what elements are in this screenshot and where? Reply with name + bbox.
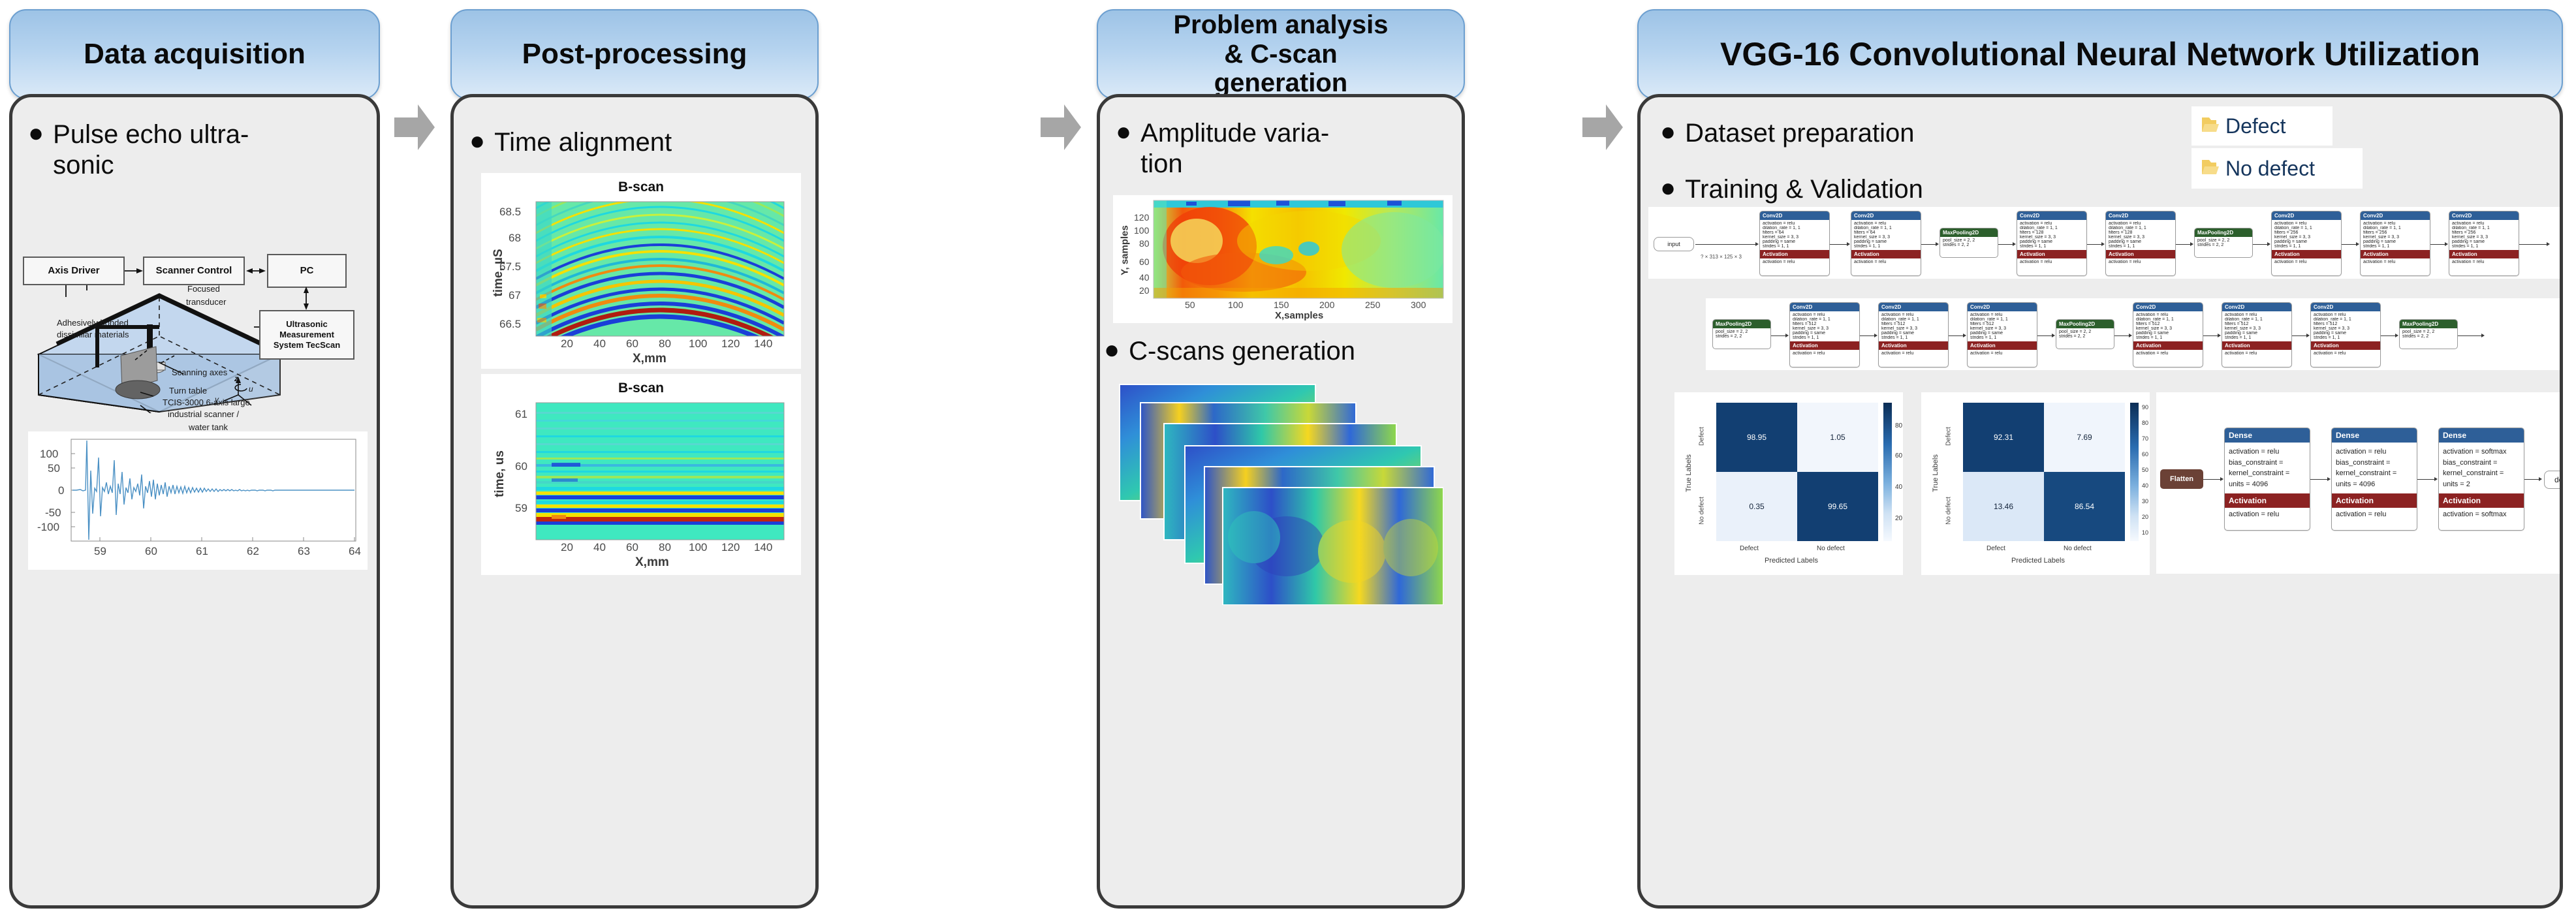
ascan-xtick-1: 60 xyxy=(145,545,157,558)
pipeline-figure: Data acquisition ● Pulse echo ultra- son… xyxy=(0,0,2576,919)
dense-layer-2: Dense activation = relu bias_constraint … xyxy=(2331,428,2417,531)
cnn-layer-conv2d-8: Conv2D activation = relu dilation_rate =… xyxy=(1789,302,1860,367)
cm1-cell-fn: 0.35 xyxy=(1716,472,1797,541)
bscan-2-xtick-5: 120 xyxy=(721,541,740,554)
class-folder-defect[interactable]: Defect xyxy=(2191,106,2333,146)
stage-1-title: Data acquisition xyxy=(84,38,306,70)
axis-label-z: z xyxy=(234,374,238,383)
layer-params: activation = relu dilation_rate = 1, 1 f… xyxy=(1968,311,2037,341)
layer-params: activation = relu dilation_rate = 1, 1 f… xyxy=(2272,220,2341,250)
cnn-layer-conv2d-11: Conv2D activation = relu dilation_rate =… xyxy=(2133,302,2203,367)
axis-label-y: y xyxy=(215,395,219,404)
bscan-1-xlabel: X,mm xyxy=(633,352,667,366)
diagram-box-pc: PC xyxy=(267,254,347,288)
folder-label: Defect xyxy=(2225,114,2285,138)
bullet-dot-icon: ● xyxy=(1116,118,1131,146)
connector-arrow-icon xyxy=(1963,334,1966,337)
diagram-label-scanner-2: industrial scanner / xyxy=(168,409,239,419)
cm2-class-no-defect: No defect xyxy=(1945,486,1953,536)
cm1-cbar-tick-0: 80 xyxy=(1895,422,1902,429)
bscan-1-ytick-4: 66.5 xyxy=(499,318,521,331)
connector xyxy=(2342,244,2356,245)
cm2-cbar-tick-7: 20 xyxy=(2142,514,2148,520)
layer-activation-param: activation = relu xyxy=(1968,350,2037,357)
stage-4-header: VGG-16 Convolutional Neural Network Util… xyxy=(1637,9,2563,99)
bscan-2-ytick-2: 59 xyxy=(515,502,527,515)
layer-params: activation = softmax bias_constraint = k… xyxy=(2439,443,2524,493)
connector xyxy=(2381,335,2395,336)
ascan-xtick-3: 62 xyxy=(247,545,259,558)
diagram-label-dissimilar-materials: dissimilar materials xyxy=(57,330,129,339)
connector-arrow-icon xyxy=(2395,334,2398,337)
layer-params: activation = relu dilation_rate = 1, 1 f… xyxy=(1760,220,1829,250)
stage-3-bullet-1: ● C-scans generation xyxy=(1104,336,1456,367)
stage-1-header: Data acquisition xyxy=(9,9,380,99)
diagram-label-scanning-axes: Scanning axes xyxy=(172,367,227,377)
layer-params: pool_size = 2, 2 strides = 2, 2 xyxy=(2195,237,2252,249)
cm1-class-defect: Defect xyxy=(1699,416,1706,458)
output-pill-label: dense_3 xyxy=(2554,475,2563,484)
layer-params: activation = relu dilation_rate = 1, 1 f… xyxy=(2361,220,2430,250)
cm1-cbar-tick-1: 60 xyxy=(1895,452,1902,459)
layer-activation-param: activation = relu xyxy=(2361,258,2430,266)
cm1-cell-fp: 1.05 xyxy=(1797,403,1878,472)
cm2-value-0-0: 92.31 xyxy=(1994,433,2013,442)
folder-label: No defect xyxy=(2225,157,2315,181)
connector xyxy=(2087,244,2101,245)
dense-layer-3-output: Dense activation = softmax bias_constrai… xyxy=(2438,428,2524,531)
cscan-xtick-3: 200 xyxy=(1319,300,1334,310)
bullet-text: Amplitude varia- tion xyxy=(1140,118,1329,179)
connector-arrow-icon xyxy=(1847,242,1850,246)
layer-params: pool_size = 2, 2 strides = 2, 2 xyxy=(1713,328,1770,340)
cscan-stack-svg xyxy=(1117,383,1443,605)
cm2-cell-tn: 86.54 xyxy=(2044,472,2125,541)
connector-arrow-icon xyxy=(2434,477,2438,481)
layer-title: Conv2D xyxy=(2311,303,2380,311)
ascan-ytick-3: -50 xyxy=(45,506,61,520)
layer-params: activation = relu bias_constraint = kern… xyxy=(2332,443,2417,493)
cnn-layer-conv2d-5: Conv2D activation = relu dilation_rate =… xyxy=(2271,211,2342,276)
bscan-2-xtick-2: 60 xyxy=(626,541,638,554)
layer-params: activation = relu dilation_rate = 1, 1 f… xyxy=(2449,220,2519,250)
validation-confusion-matrix: True Labels Defect No defect 92.31 7.69 … xyxy=(1921,392,2150,575)
cscan-ytick-4: 40 xyxy=(1139,272,1150,283)
layer-activation-title: Activation xyxy=(2017,250,2086,258)
stage-2-header: Post-processing xyxy=(450,9,819,99)
cm1-value-0-0: 98.95 xyxy=(1747,433,1767,442)
layer-title: MaxPooling2D xyxy=(2195,228,2252,237)
connector-arrow-icon xyxy=(2267,242,2270,246)
layer-activation-title: Activation xyxy=(2272,250,2341,258)
layer-activation-title: Activation xyxy=(1760,250,1829,258)
connector-arrow-icon xyxy=(2356,242,2359,246)
bscan-1-xtick-2: 60 xyxy=(626,337,638,350)
cscan-xlabel: X,samples xyxy=(1275,310,1323,321)
connector xyxy=(2519,244,2547,245)
layer-activation-title: Activation xyxy=(2225,493,2310,508)
cscan-amplitude-plot: Y, samples X,samples 120 100 80 60 40 20… xyxy=(1113,195,1453,323)
cm1-colorbar xyxy=(1883,403,1892,541)
cnn-row-3-dense-head: Flatten Dense activation = relu bias_con… xyxy=(2156,392,2560,574)
stage-1-body: ● Pulse echo ultra- sonic xyxy=(9,94,380,909)
layer-activation-title: Activation xyxy=(2449,250,2519,258)
cscan-ytick-2: 80 xyxy=(1139,238,1150,249)
connector-arrow-icon xyxy=(2013,242,2016,246)
stage-2-body: ● Time alignment B-scan xyxy=(450,94,819,909)
connector-arrow-icon xyxy=(2547,242,2550,246)
connector-arrow-icon xyxy=(2190,242,2193,246)
layer-activation-param: activation = relu xyxy=(1790,350,1859,357)
cm1-value-1-0: 0.35 xyxy=(1749,502,1764,511)
cm2-xtick-no-defect: No defect xyxy=(2064,545,2092,552)
bscan-1-svg xyxy=(481,173,801,369)
stage-arrow-2 xyxy=(1041,103,1081,151)
bscan-2-xtick-6: 140 xyxy=(754,541,772,554)
layer-activation-param: activation = relu xyxy=(1851,258,1921,266)
diagram-label-adhesively-bonded: Adhesively bonded xyxy=(57,318,129,328)
axis-label-u: u xyxy=(249,384,253,394)
connector xyxy=(2430,244,2445,245)
layer-activation-param: activation = relu xyxy=(2222,350,2291,357)
layer-activation-param: activation = relu xyxy=(2311,350,2380,357)
bullet-text: Training & Validation xyxy=(1685,174,1923,205)
cm2-cbar-tick-3: 60 xyxy=(2142,451,2148,458)
layer-title: Conv2D xyxy=(2272,211,2341,220)
connector-arrow-icon xyxy=(2445,242,2448,246)
bullet-dot-icon: ● xyxy=(1660,174,1676,202)
layer-activation-title: Activation xyxy=(1879,341,1948,350)
bullet-dot-icon: ● xyxy=(1104,336,1120,364)
layer-params: activation = relu dilation_rate = 1, 1 f… xyxy=(2222,311,2291,341)
layer-params: activation = relu dilation_rate = 1, 1 f… xyxy=(1790,311,1859,341)
box-label: Axis Driver xyxy=(48,265,99,277)
layer-title: Conv2D xyxy=(1851,211,1921,220)
connector-arrow-icon xyxy=(2220,477,2223,481)
cnn-layer-conv2d-13: Conv2D activation = relu dilation_rate =… xyxy=(2310,302,2381,367)
layer-title: Dense xyxy=(2439,428,2524,443)
connector xyxy=(2203,479,2220,480)
flatten-block: Flatten xyxy=(2160,469,2203,489)
layer-title: Conv2D xyxy=(2361,211,2430,220)
cscan-ylabel: Y, samples xyxy=(1120,218,1131,283)
connector-arrow-icon xyxy=(2218,334,2221,337)
cm1-cbar-tick-2: 40 xyxy=(1895,484,1902,491)
bscan-aligned-plot: B-scan xyxy=(481,374,801,575)
bscan-2-ytick-1: 60 xyxy=(515,460,527,473)
bullet-text: C-scans generation xyxy=(1129,336,1355,367)
cscan-ytick-3: 60 xyxy=(1139,257,1150,267)
stage-arrow-3 xyxy=(1582,103,1623,151)
layer-params: activation = relu bias_constraint = kern… xyxy=(2225,443,2310,493)
layer-title: Conv2D xyxy=(1760,211,1829,220)
stage-3-header: Problem analysis & C-scan generation xyxy=(1097,9,1465,99)
layer-title: Conv2D xyxy=(1879,303,1948,311)
connector xyxy=(1921,244,1936,245)
box-label: Scanner Control xyxy=(156,265,232,277)
layer-activation-title: Activation xyxy=(1968,341,2037,350)
cm2-cbar-tick-6: 30 xyxy=(2142,498,2148,505)
bscan-1-ytick-3: 67 xyxy=(509,289,521,302)
bscan-2-xtick-3: 80 xyxy=(659,541,671,554)
bscan-2-xtick-0: 20 xyxy=(561,541,573,554)
cscan-xtick-4: 250 xyxy=(1365,300,1380,310)
cm2-cell-fp: 7.69 xyxy=(2044,403,2125,472)
cm2-cell-fn: 13.46 xyxy=(1963,472,2044,541)
layer-activation-title: Activation xyxy=(2311,341,2380,350)
layer-activation-title: Activation xyxy=(2439,493,2524,508)
box-label: Ultrasonic Measurement System TecScan xyxy=(274,319,340,350)
connector-arrow-icon xyxy=(2327,477,2331,481)
layer-activation-param: activation = relu xyxy=(2106,258,2175,266)
connector-arrow-icon xyxy=(1755,242,1759,246)
ascan-ytick-1: 50 xyxy=(48,462,60,475)
layer-activation-title: Activation xyxy=(2106,250,2175,258)
layer-activation-param: activation = relu xyxy=(1760,258,1829,266)
layer-params: activation = relu dilation_rate = 1, 1 f… xyxy=(1851,220,1921,250)
connector xyxy=(1771,335,1785,336)
cm1-value-0-1: 1.05 xyxy=(1830,433,1845,442)
diagram-label-water-tank: water tank xyxy=(189,422,228,432)
cnn-layer-conv2d-2: Conv2D activation = relu dilation_rate =… xyxy=(1851,211,1921,276)
cnn-row-1: input ? × 313 × 125 × 3 Conv2D activatio… xyxy=(1648,207,2560,279)
ascan-xtick-2: 61 xyxy=(196,545,208,558)
connector-arrow-icon xyxy=(2129,334,2132,337)
layer-activation-param: activation = relu xyxy=(2017,258,2086,266)
layer-activation-param: activation = softmax xyxy=(2439,508,2524,521)
layer-activation-param: activation = relu xyxy=(1879,350,1948,357)
layer-params: activation = relu dilation_rate = 1, 1 f… xyxy=(2311,311,2380,341)
connector-arrow-icon xyxy=(2306,334,2310,337)
bscan-2-xlabel: X,mm xyxy=(635,555,669,570)
stage-4-title: VGG-16 Convolutional Neural Network Util… xyxy=(1720,35,2480,74)
layer-title: Dense xyxy=(2225,428,2310,443)
layer-activation-param: activation = relu xyxy=(2449,258,2519,266)
layer-activation-title: Activation xyxy=(1790,341,1859,350)
layer-params: activation = relu dilation_rate = 1, 1 f… xyxy=(2133,311,2203,341)
connector xyxy=(1830,244,1847,245)
layer-activation-param: activation = relu xyxy=(2272,258,2341,266)
input-pill: input xyxy=(1654,237,1694,251)
layer-title: MaxPooling2D xyxy=(2056,320,2114,328)
dense-layer-1: Dense activation = relu bias_constraint … xyxy=(2224,428,2310,531)
bullet-dot-icon: ● xyxy=(469,127,485,155)
connector-arrow-icon xyxy=(1785,334,1789,337)
bscan-2-ytick-0: 61 xyxy=(515,408,527,421)
training-confusion-matrix: True Labels Defect No defect 98.95 1.05 … xyxy=(1674,392,1903,575)
connector xyxy=(1860,335,1874,336)
cm2-cell-tp: 92.31 xyxy=(1963,403,2044,472)
cnn-layer-conv2d-7: Conv2D activation = relu dilation_rate =… xyxy=(2449,211,2519,276)
layer-params: activation = relu dilation_rate = 1, 1 f… xyxy=(1879,311,1948,341)
bscan-1-xtick-4: 100 xyxy=(689,337,707,350)
ascan-xtick-4: 63 xyxy=(298,545,310,558)
bscan-1-xtick-0: 20 xyxy=(561,337,573,350)
input-pill-label: input xyxy=(1667,241,1680,247)
layer-title: Conv2D xyxy=(2017,211,2086,220)
diagram-box-tecscan: Ultrasonic Measurement System TecScan xyxy=(259,310,354,360)
cnn-layer-maxpool-5: MaxPooling2D pool_size = 2, 2 strides = … xyxy=(2399,319,2458,349)
ascan-xtick-5: 64 xyxy=(349,545,361,558)
stage-3-bullet-0: ● Amplitude varia- tion xyxy=(1116,118,1442,179)
diagram-box-scanner-control: Scanner Control xyxy=(143,257,245,285)
layer-title: Conv2D xyxy=(2449,211,2519,220)
bscan-1-ytick-1: 68 xyxy=(509,232,521,245)
layer-activation-title: Activation xyxy=(2222,341,2291,350)
cm2-value-0-1: 7.69 xyxy=(2077,433,2092,442)
cm2-value-1-0: 13.46 xyxy=(1994,502,2013,511)
layer-title: Conv2D xyxy=(2222,303,2291,311)
connector xyxy=(2203,335,2218,336)
cm2-class-defect: Defect xyxy=(1945,416,1953,458)
connector-arrow-icon xyxy=(2101,242,2105,246)
stage-1-bullet-0: ● Pulse echo ultra- sonic xyxy=(28,119,354,181)
cm2-xtick-defect: Defect xyxy=(1987,545,2005,552)
connector-arrow-icon xyxy=(2539,477,2542,481)
connector xyxy=(2037,335,2052,336)
cm2-colorbar xyxy=(2130,403,2139,541)
bullet-dot-icon: ● xyxy=(1660,118,1676,146)
folder-icon xyxy=(2199,157,2219,180)
cm1-xlabel: Predicted Labels xyxy=(1765,557,1818,565)
connector-arrow-icon xyxy=(2052,334,2055,337)
layer-title: MaxPooling2D xyxy=(1713,320,1770,328)
bscan-1-xtick-6: 140 xyxy=(754,337,772,350)
layer-activation-title: Activation xyxy=(2361,250,2430,258)
stage-2-bullet-0: ● Time alignment xyxy=(469,127,796,158)
cnn-row-2: MaxPooling2D pool_size = 2, 2 strides = … xyxy=(1706,298,2560,370)
bscan-1-ytick-2: 67.5 xyxy=(499,260,521,273)
layer-activation-title: Activation xyxy=(1851,250,1921,258)
cnn-layer-maxpool-3: MaxPooling2D pool_size = 2, 2 strides = … xyxy=(1712,319,1771,349)
layer-activation-param: activation = relu xyxy=(2332,508,2417,521)
cm2-cbar-tick-1: 80 xyxy=(2142,420,2148,426)
layer-activation-param: activation = relu xyxy=(2133,350,2203,357)
cnn-layer-conv2d-3: Conv2D activation = relu dilation_rate =… xyxy=(2017,211,2087,276)
cscan-ytick-5: 20 xyxy=(1139,285,1150,296)
cnn-layer-conv2d-4: Conv2D activation = relu dilation_rate =… xyxy=(2105,211,2176,276)
layer-title: Dense xyxy=(2332,428,2417,443)
diagram-label-scanner-1: TCIS-3000 6-axis large xyxy=(163,397,250,407)
cscan-ytick-0: 120 xyxy=(1134,212,1149,223)
cscan-xtick-1: 100 xyxy=(1228,300,1243,310)
stage-arrow-1 xyxy=(394,103,435,151)
layer-activation-title: Activation xyxy=(2133,341,2203,350)
bullet-text: Dataset preparation xyxy=(1685,118,1914,149)
layer-params: activation = relu dilation_rate = 1, 1 f… xyxy=(2017,220,2086,250)
bscan-2-xtick-4: 100 xyxy=(689,541,707,554)
connector xyxy=(2114,335,2129,336)
stage-2-title: Post-processing xyxy=(522,38,747,70)
stage-3-title: Problem analysis & C-scan generation xyxy=(1173,10,1388,98)
connector xyxy=(2176,244,2190,245)
cnn-layer-conv2d-10: Conv2D activation = relu dilation_rate =… xyxy=(1967,302,2037,367)
cm2-value-1-1: 86.54 xyxy=(2075,502,2094,511)
ascan-ytick-2: 0 xyxy=(58,484,64,497)
class-folder-no-defect[interactable]: No defect xyxy=(2191,148,2363,189)
bscan-1-xtick-5: 120 xyxy=(721,337,740,350)
cnn-layer-maxpool-2: MaxPooling2D pool_size = 2, 2 strides = … xyxy=(2194,228,2253,258)
cm2-cbar-tick-4: 50 xyxy=(2142,467,2148,473)
diagram-label-transducer: transducer xyxy=(186,297,226,307)
diagram-label-turn-table: Turn table xyxy=(169,386,207,396)
bullet-dot-icon: ● xyxy=(28,119,44,147)
bscan-1-xtick-1: 40 xyxy=(593,337,606,350)
output-pill: dense_3 xyxy=(2544,471,2563,489)
connector xyxy=(2310,479,2327,480)
cm2-cbar-tick-2: 70 xyxy=(2142,435,2148,442)
box-label: PC xyxy=(300,265,314,277)
diagram-box-axis-driver: Axis Driver xyxy=(23,257,125,285)
layer-title: Conv2D xyxy=(2106,211,2175,220)
cm1-xtick-defect: Defect xyxy=(1740,545,1759,552)
cm1-cbar-tick-3: 20 xyxy=(1895,515,1902,522)
connector-arrow-icon xyxy=(1936,242,1939,246)
cnn-layer-maxpool-4: MaxPooling2D pool_size = 2, 2 strides = … xyxy=(2056,319,2114,349)
ascan-ytick-0: 100 xyxy=(40,448,58,461)
connector xyxy=(1695,244,1755,245)
flatten-label: Flatten xyxy=(2170,475,2193,483)
cm2-xlabel: Predicted Labels xyxy=(2011,557,2065,565)
connector-arrow-icon xyxy=(1874,334,1877,337)
cm1-cell-tn: 99.65 xyxy=(1797,472,1878,541)
ascan-xtick-0: 59 xyxy=(94,545,106,558)
ascan-plot: 100 50 0 -50 -100 59 60 61 62 63 64 xyxy=(28,431,368,570)
scanner-block-diagram: Focused transducer Adhesively bonded dis… xyxy=(19,199,377,413)
layer-params: pool_size = 2, 2 strides = 2, 2 xyxy=(2056,328,2114,340)
layer-params: activation = relu dilation_rate = 1, 1 f… xyxy=(2106,220,2175,250)
connector xyxy=(2417,479,2434,480)
cm1-cell-tp: 98.95 xyxy=(1716,403,1797,472)
layer-title: Conv2D xyxy=(1790,303,1859,311)
cm1-xtick-no-defect: No defect xyxy=(1817,545,1845,552)
bscan-2-xtick-1: 40 xyxy=(593,541,606,554)
bscan-2-svg xyxy=(481,374,801,575)
layer-activation-title: Activation xyxy=(2332,493,2417,508)
cscan-xtick-5: 300 xyxy=(1411,300,1426,310)
diagram-label-focused: Focused xyxy=(187,284,220,294)
stage-4-bullet-0: ● Dataset preparation xyxy=(1660,118,2052,149)
layer-activation-param: activation = relu xyxy=(2225,508,2310,521)
bscan-2-ylabel: time, us xyxy=(493,446,507,502)
connector xyxy=(1998,244,2013,245)
cscan-xtick-0: 50 xyxy=(1185,300,1195,310)
stage-4-body: ● Dataset preparation ● Training & Valid… xyxy=(1637,94,2563,909)
cm1-class-no-defect: No defect xyxy=(1699,486,1706,536)
folder-icon xyxy=(2199,115,2219,138)
connector xyxy=(2458,335,2481,336)
cm2-cbar-tick-8: 10 xyxy=(2142,529,2148,536)
cscan-ytick-1: 100 xyxy=(1134,225,1149,236)
layer-title: Conv2D xyxy=(2133,303,2203,311)
bscan-1-ytick-0: 68.5 xyxy=(499,206,521,219)
layer-title: MaxPooling2D xyxy=(1940,228,1998,237)
input-shape-label: ? × 313 × 125 × 3 xyxy=(1701,254,1742,260)
cnn-layer-conv2d-1: Conv2D activation = relu dilation_rate =… xyxy=(1759,211,1830,276)
connector xyxy=(1949,335,1963,336)
cm2-cbar-tick-5: 40 xyxy=(2142,482,2148,489)
bullet-text: Pulse echo ultra- sonic xyxy=(53,119,249,181)
cm1-ylabel: True Labels xyxy=(1685,443,1693,503)
cm2-cbar-tick-0: 90 xyxy=(2142,404,2148,411)
layer-params: pool_size = 2, 2 strides = 2, 2 xyxy=(2400,328,2457,340)
cscan-stack xyxy=(1117,383,1443,605)
connector xyxy=(2253,244,2267,245)
layer-params: pool_size = 2, 2 strides = 2, 2 xyxy=(1940,237,1998,249)
connector xyxy=(2292,335,2306,336)
cscan-xtick-2: 150 xyxy=(1274,300,1289,310)
layer-title: MaxPooling2D xyxy=(2400,320,2457,328)
